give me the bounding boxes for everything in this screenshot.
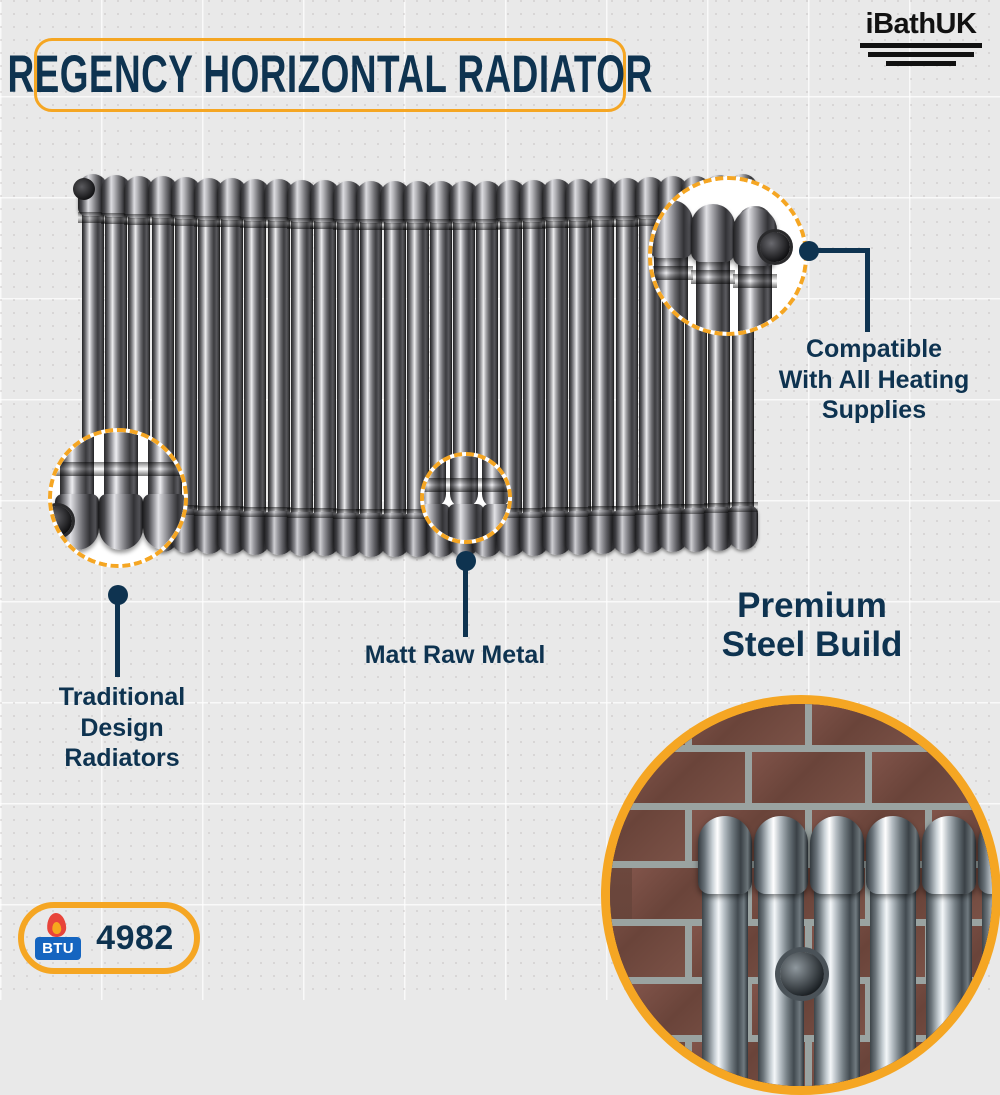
callout-label-matt-raw-metal: Matt Raw Metal [300,640,610,671]
callout-label-traditional: Traditional Design Radiators [8,682,236,774]
brick-row [601,752,1000,810]
feature-heading-line-1: Premium [640,586,984,625]
callout-line-2: With All Heating [752,365,996,396]
feature-heading-line-2: Steel Build [640,625,984,664]
radiator-column [523,202,545,532]
brand-logo: iBathUK [856,10,986,66]
page-title-box: REGENCY HORIZONTAL RADIATOR [34,38,626,112]
btu-icon: BTU [34,914,82,962]
lifestyle-photo-circle [601,695,1000,1095]
brick [992,868,1000,919]
callout-line-3: Radiators [8,743,236,774]
zoom-radiator-feet [424,504,508,540]
logo-bar-2-icon [868,52,974,57]
callout-line-1: Traditional [8,682,236,713]
feature-heading-premium-steel-build: Premium Steel Build [640,586,984,664]
callout-line-2: Design [8,713,236,744]
zoom-radiator-detail [424,456,508,508]
zoom-bubble-content [424,456,508,540]
radiator-column [546,201,568,531]
zoom-bubble-traditional [48,428,188,568]
radiator-column [314,202,336,532]
brand-logo-text: iBathUK [856,10,986,39]
callout-line-3: Supplies [752,395,996,426]
leader-line-traditional [115,595,120,677]
radiator-column [569,201,591,531]
callout-line-1: Matt Raw Metal [300,640,610,671]
callout-line-1: Compatible [752,334,996,365]
radiator-valve-icon [73,178,95,200]
btu-chip-label: BTU [42,940,74,957]
radiator-column [337,203,359,533]
radiator-column [616,200,638,530]
btu-chip: BTU [35,937,81,960]
zoom-bubble-matt-raw-metal [420,452,512,544]
radiator-column [198,200,220,530]
brick [632,752,752,803]
radiator-valve-icon [780,952,824,996]
radiator-column-foot [728,506,758,550]
leader-line-compatible-h [816,248,870,253]
radiator-column [592,200,614,530]
page-title: REGENCY HORIZONTAL RADIATOR [7,45,652,105]
callout-label-compatible: Compatible With All Heating Supplies [752,334,996,426]
btu-badge: BTU 4982 [18,902,200,974]
brick [601,1042,692,1093]
logo-bar-1-icon [860,43,982,48]
brick-row [601,695,1000,752]
zoom-bubble-content [52,432,184,564]
brick [601,810,692,861]
radiator-column [244,201,266,531]
radiator-column [221,200,243,530]
zoom-radiator-detail [652,206,804,332]
chrome-radiator-photo [702,822,1000,1095]
radiator-column [360,203,382,533]
radiator-column [384,203,406,533]
btu-value: 4982 [82,919,194,958]
brick [872,752,992,803]
zoom-bubble-compatible [648,176,808,336]
zoom-radiator-feet [56,494,184,554]
zoom-bubble-content [652,180,804,332]
radiator-column [291,202,313,532]
radiator-column [268,201,290,531]
leader-line-matt [463,561,468,637]
brick [752,752,872,803]
radiator-band-bottom [728,502,758,512]
flame-icon [46,912,67,937]
logo-bar-3-icon [886,61,956,66]
leader-line-compatible-v [865,248,870,332]
brick [601,926,692,977]
